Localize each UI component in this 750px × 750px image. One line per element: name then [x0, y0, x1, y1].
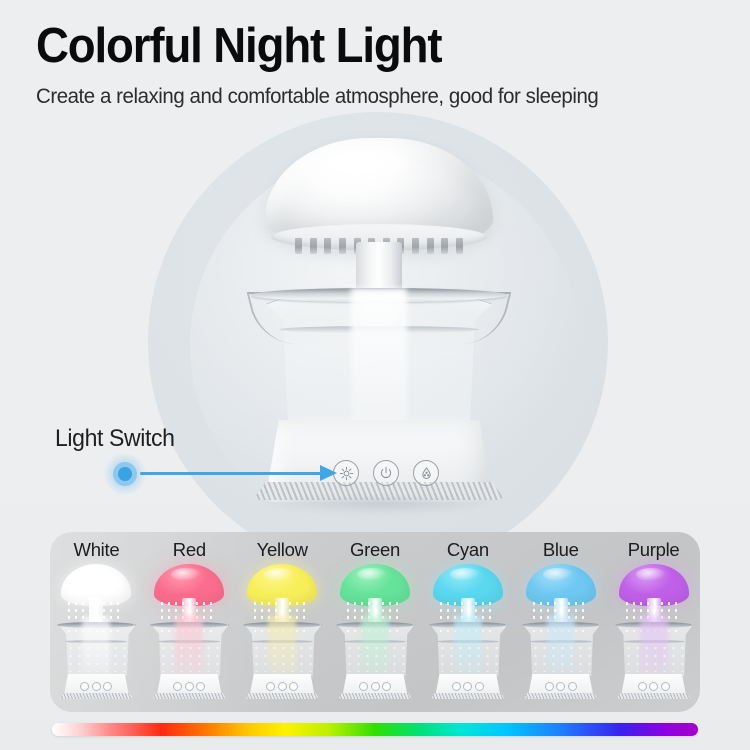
callout-arrow-line [140, 472, 323, 475]
mini-base-vents [431, 693, 505, 699]
mini-control-dot [661, 682, 670, 691]
mini-water-bubbles [252, 644, 312, 672]
color-option-label: Cyan [421, 539, 514, 561]
color-spectrum-bar [52, 723, 698, 736]
color-option-blue[interactable]: Blue [514, 532, 607, 712]
mini-control-dot [463, 682, 472, 691]
mini-control-dots [638, 682, 670, 691]
page-title: Colorful Night Light [36, 18, 441, 74]
mini-control-dots [266, 682, 298, 691]
mini-control-dot [638, 682, 647, 691]
mini-water-bubbles [159, 644, 219, 672]
color-option-green[interactable]: Green [329, 532, 422, 712]
mini-cap-highlight [450, 568, 480, 581]
light-switch-label: Light Switch [55, 425, 175, 453]
mist-icon [419, 466, 434, 481]
nozzle [441, 238, 448, 254]
mini-humidifier [333, 564, 417, 704]
mini-control-dot [266, 682, 275, 691]
color-option-label: Purple [607, 539, 700, 561]
mini-water-bubbles [345, 644, 405, 672]
mini-cap-highlight [636, 568, 666, 581]
color-options-row: WhiteRedYellowGreenCyanBluePurple [50, 532, 700, 712]
mini-control-dot [278, 682, 287, 691]
mini-control-dot [568, 682, 577, 691]
product-shadow [261, 498, 497, 514]
mini-base-vents [617, 693, 691, 699]
color-option-red[interactable]: Red [143, 532, 236, 712]
mini-water-bubbles [66, 644, 126, 672]
mini-base-vents [524, 693, 598, 699]
mini-control-dot [382, 682, 391, 691]
mini-control-dot [371, 682, 380, 691]
mini-control-dot [103, 682, 112, 691]
color-option-white[interactable]: White [50, 532, 143, 712]
mini-water-bubbles [531, 644, 591, 672]
mini-base-vents [338, 693, 412, 699]
mini-control-dot [545, 682, 554, 691]
mini-water-bubbles [438, 644, 498, 672]
color-option-purple[interactable]: Purple [607, 532, 700, 712]
control-panel [333, 460, 439, 486]
mini-control-dot [173, 682, 182, 691]
mini-control-dot [359, 682, 368, 691]
mini-control-dot [185, 682, 194, 691]
color-option-label: Blue [514, 539, 607, 561]
page-subtitle: Create a relaxing and comfortable atmosp… [36, 84, 598, 109]
color-option-label: Yellow [236, 539, 329, 561]
mini-control-dots [359, 682, 391, 691]
cap-highlight [317, 148, 421, 188]
mini-control-dot [556, 682, 565, 691]
nozzle [412, 238, 419, 254]
mini-humidifier [612, 564, 696, 704]
mini-cap-highlight [264, 568, 294, 581]
mini-base-vents [152, 693, 226, 699]
mini-control-dots [545, 682, 577, 691]
color-option-label: Green [329, 539, 422, 561]
product-illustration [243, 138, 513, 528]
nozzle [427, 238, 434, 254]
nozzle [324, 238, 331, 254]
mini-control-dot [452, 682, 461, 691]
mini-control-dots [80, 682, 112, 691]
color-options-panel: WhiteRedYellowGreenCyanBluePurple [50, 532, 700, 712]
nozzle [310, 238, 317, 254]
mini-humidifier [147, 564, 231, 704]
mini-control-dot [289, 682, 298, 691]
nozzle [339, 238, 346, 254]
color-option-label: White [50, 539, 143, 561]
product-infographic: Colorful Night Light Create a relaxing a… [0, 0, 750, 750]
mini-cap-highlight [357, 568, 387, 581]
nozzle [295, 238, 302, 254]
color-option-cyan[interactable]: Cyan [421, 532, 514, 712]
mini-cap-highlight [78, 568, 108, 581]
mini-control-dots [452, 682, 484, 691]
mini-control-dot [80, 682, 89, 691]
mini-cap-highlight [171, 568, 201, 581]
power-icon [379, 466, 393, 480]
mini-humidifier [240, 564, 324, 704]
mini-base-vents [59, 693, 133, 699]
mini-water-bubbles [624, 644, 684, 672]
mini-control-dots [173, 682, 205, 691]
nozzle [456, 238, 463, 254]
mini-base-vents [245, 693, 319, 699]
power-button[interactable] [373, 460, 399, 486]
mini-control-dot [649, 682, 658, 691]
callout-marker-dot[interactable] [118, 467, 132, 481]
mini-cap-highlight [543, 568, 573, 581]
sun-icon [339, 466, 354, 481]
callout-arrow-head [320, 465, 337, 481]
mini-control-dot [475, 682, 484, 691]
color-option-yellow[interactable]: Yellow [236, 532, 329, 712]
mini-humidifier [426, 564, 510, 704]
color-option-label: Red [143, 539, 236, 561]
mini-humidifier [54, 564, 138, 704]
mini-control-dot [92, 682, 101, 691]
mini-humidifier [519, 564, 603, 704]
mist-button[interactable] [413, 460, 439, 486]
mini-control-dot [196, 682, 205, 691]
mist-column [351, 288, 407, 426]
